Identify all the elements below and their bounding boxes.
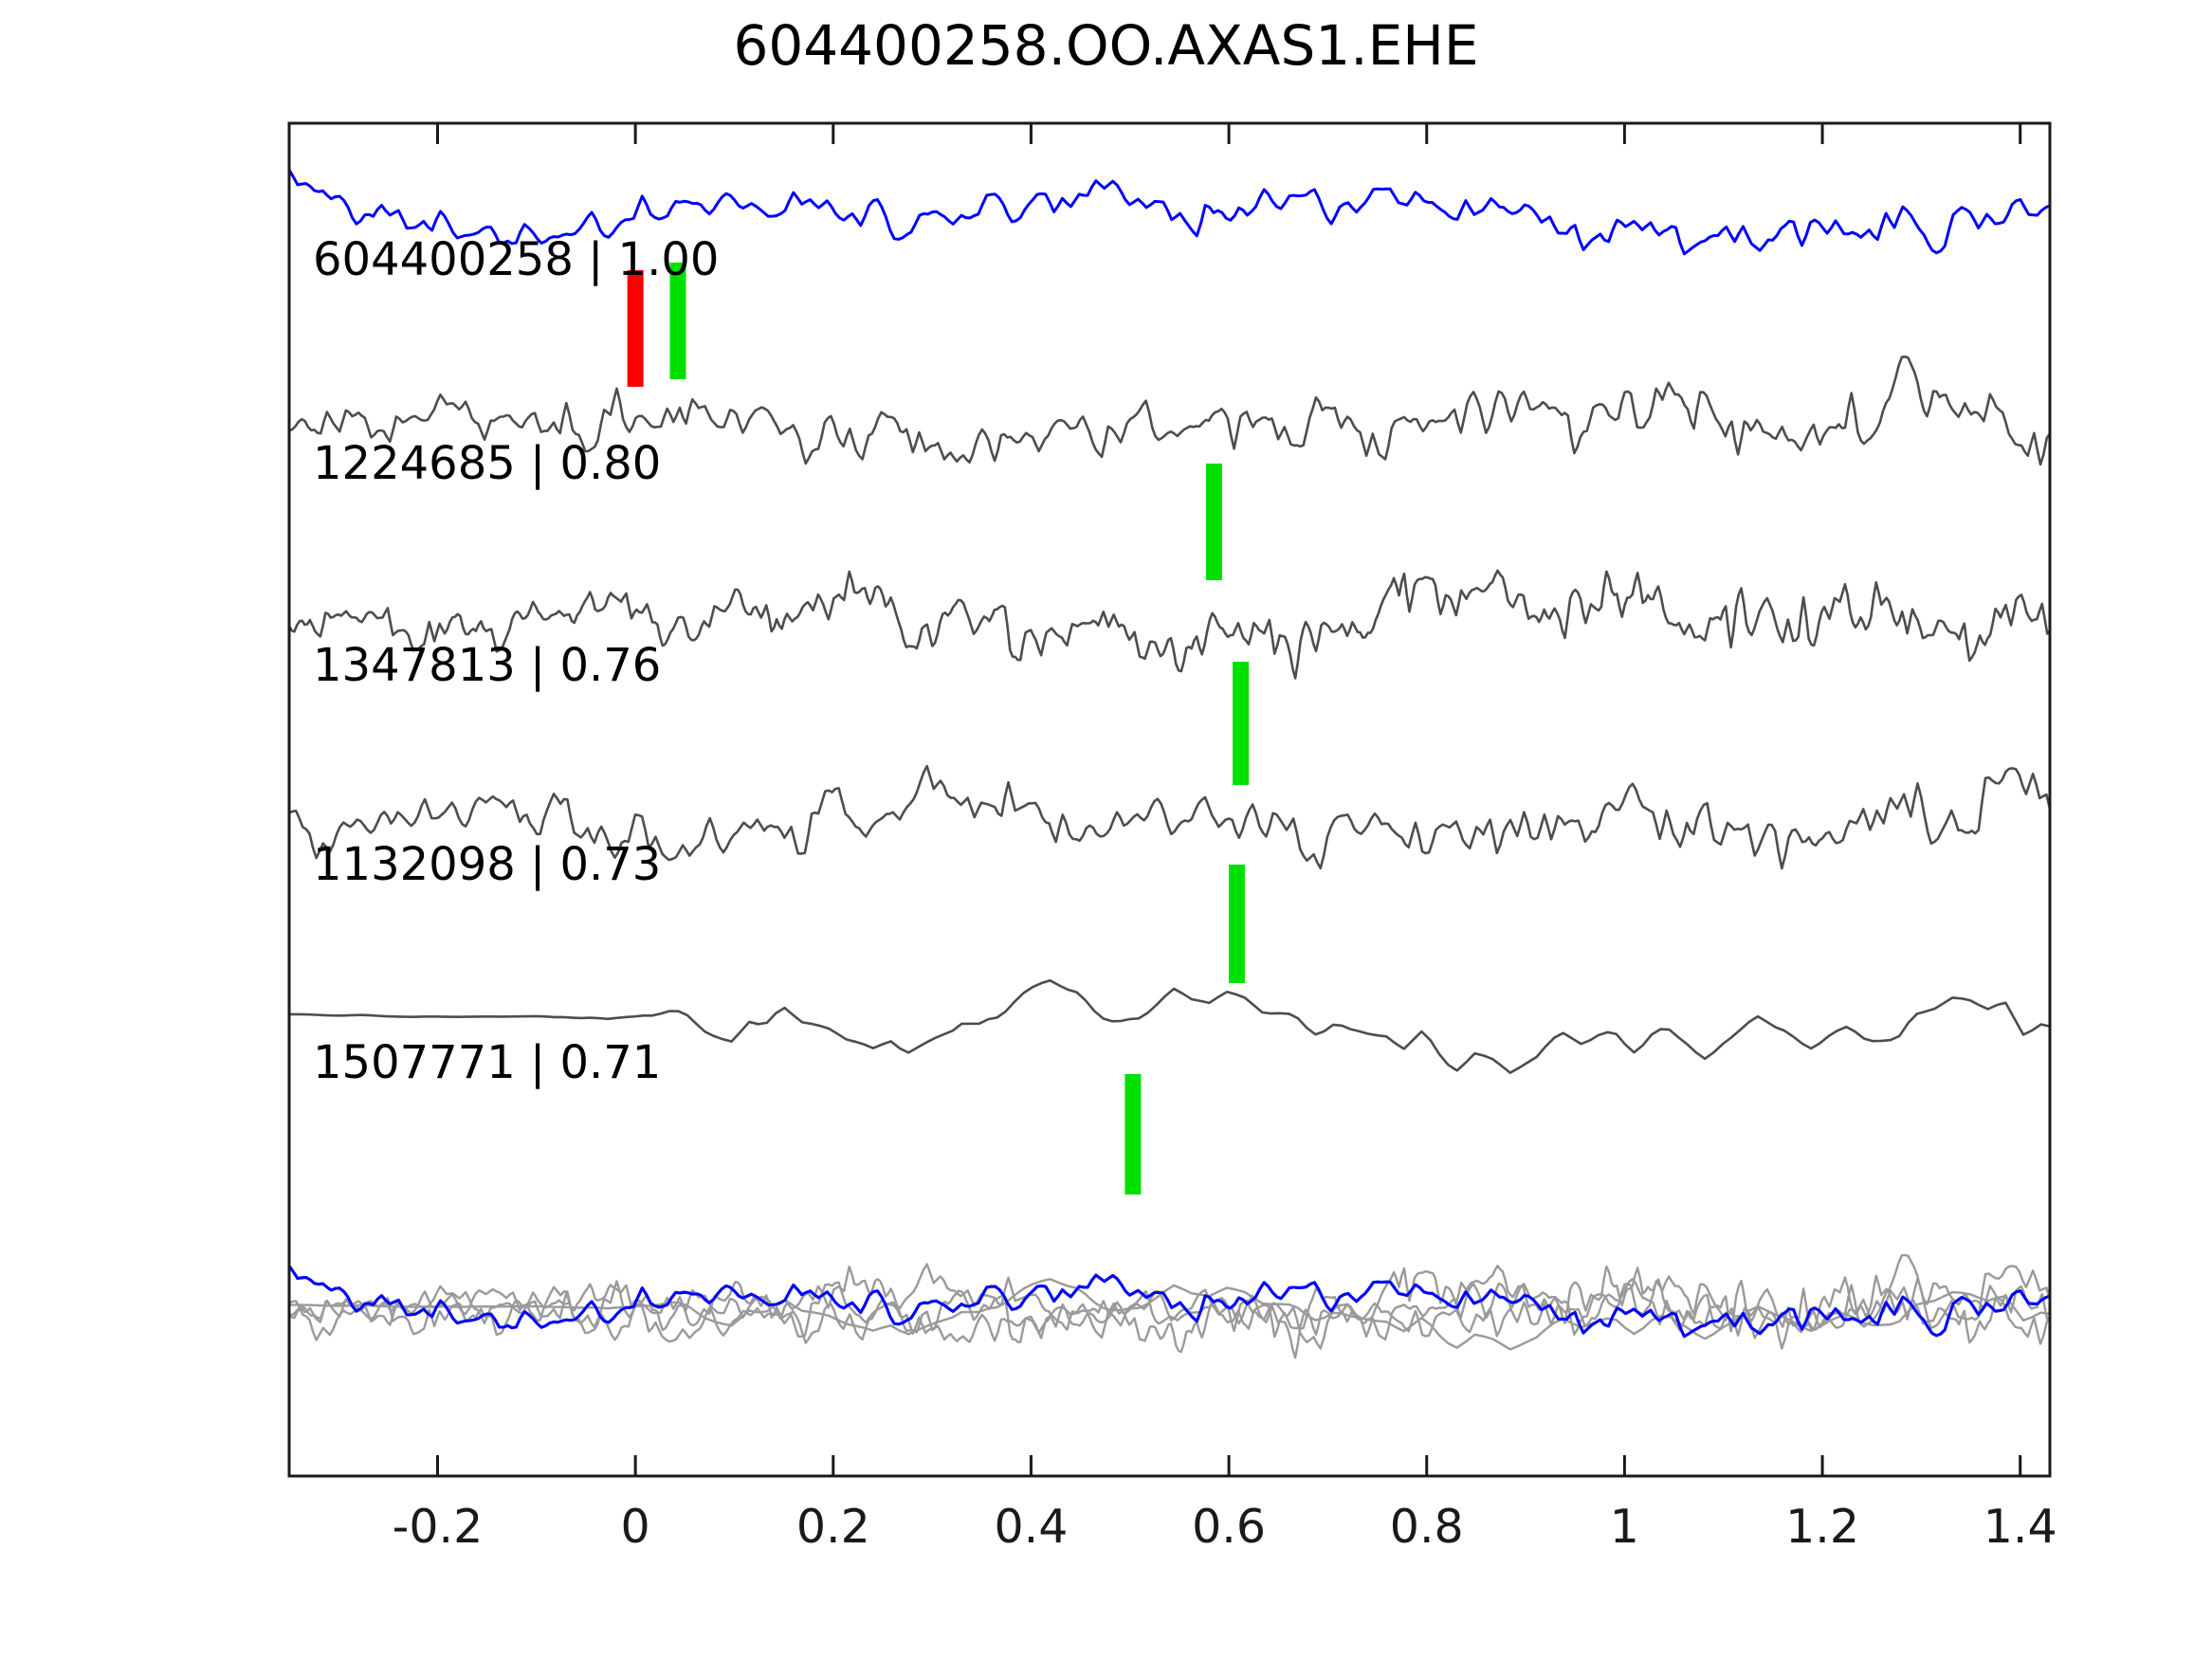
pick-green-marker-1224685 [1206,464,1222,580]
overlay-1224685 [289,1255,2050,1344]
overlay-604400258-top [289,1266,2050,1336]
x-tick-label: 1.4 [1983,1500,2057,1554]
pick-green-marker-1347813 [1233,662,1249,785]
x-tick-label: 0.6 [1192,1500,1266,1554]
trace-label-1132098: 1132098 | 0.73 [313,838,661,891]
x-tick-label: 0.2 [796,1500,870,1554]
x-tick-label: -0.2 [393,1500,484,1554]
waveform-figure: 604400258.OO.AXAS1.EHE 604400258 | 1.001… [0,0,2212,1659]
pick-markers-layer [628,263,1249,1194]
trace-label-1347813: 1347813 | 0.76 [313,639,661,692]
axes-frame [289,123,2050,1476]
x-tick-label: 1.2 [1785,1500,1859,1554]
x-tick-label: 1 [1610,1500,1639,1554]
pick-green-marker-1132098 [1229,865,1245,983]
pick-green-marker-1507771 [1124,1074,1141,1194]
trace-label-1507771: 1507771 | 0.71 [313,1036,661,1089]
x-tick-label: 0 [621,1500,650,1554]
trace-label-1224685: 1224685 | 0.80 [313,437,661,490]
x-tick-label: 0.4 [994,1500,1068,1554]
trace-labels-layer: 604400258 | 1.001224685 | 0.801347813 | … [313,233,719,1089]
plot-canvas: 604400258 | 1.001224685 | 0.801347813 | … [0,0,2212,1659]
x-tick-label: 0.8 [1390,1500,1464,1554]
trace-label-604400258: 604400258 | 1.00 [313,233,719,286]
pick-red-marker-604400258 [628,270,644,387]
traces-layer [289,170,2050,1358]
